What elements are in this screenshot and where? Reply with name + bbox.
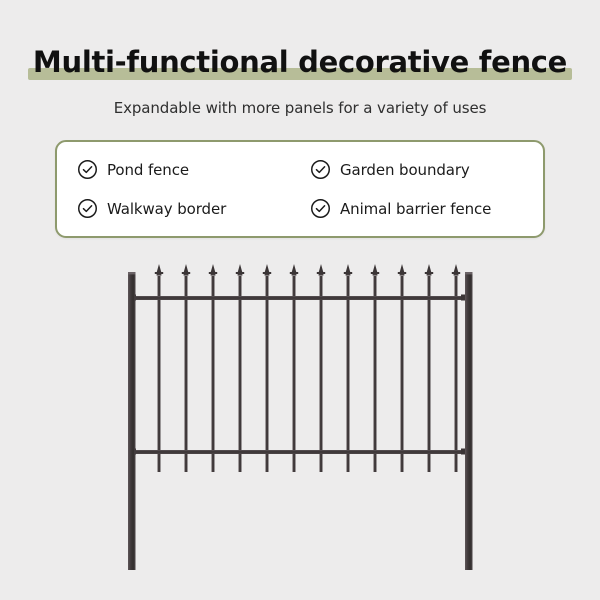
feature-label: Pond fence xyxy=(107,161,189,179)
fence-post-right-cap xyxy=(465,272,473,274)
feature-grid: Pond fence Garden boundary Walkway borde… xyxy=(57,142,543,236)
fence-finial-group xyxy=(155,264,460,276)
page-title-block: Multi-functional decorative fence xyxy=(0,42,600,86)
check-circle-icon xyxy=(77,198,98,219)
fence-top-rail xyxy=(130,296,468,300)
feature-list-box: Pond fence Garden boundary Walkway borde… xyxy=(55,140,545,238)
fence-bottom-rail xyxy=(130,450,468,454)
feature-item-animal-barrier-fence: Animal barrier fence xyxy=(310,189,543,228)
feature-item-pond-fence: Pond fence xyxy=(77,150,310,189)
feature-label: Garden boundary xyxy=(340,161,470,179)
page-subtitle: Expandable with more panels for a variet… xyxy=(0,99,600,117)
product-image xyxy=(0,248,600,600)
fence-illustration xyxy=(0,248,600,600)
check-circle-icon xyxy=(310,159,331,180)
feature-item-walkway-border: Walkway border xyxy=(77,189,310,228)
fence-post-left-cap xyxy=(128,272,136,274)
fence-picket-group xyxy=(155,264,460,472)
feature-label: Walkway border xyxy=(107,200,226,218)
page-title: Multi-functional decorative fence xyxy=(33,42,567,82)
check-circle-icon xyxy=(77,159,98,180)
fence-post-right xyxy=(465,272,473,570)
feature-item-garden-boundary: Garden boundary xyxy=(310,150,543,189)
check-circle-icon xyxy=(310,198,331,219)
feature-label: Animal barrier fence xyxy=(340,200,491,218)
fence-post-left xyxy=(128,272,136,570)
product-banner: Multi-functional decorative fence Expand… xyxy=(0,0,600,600)
